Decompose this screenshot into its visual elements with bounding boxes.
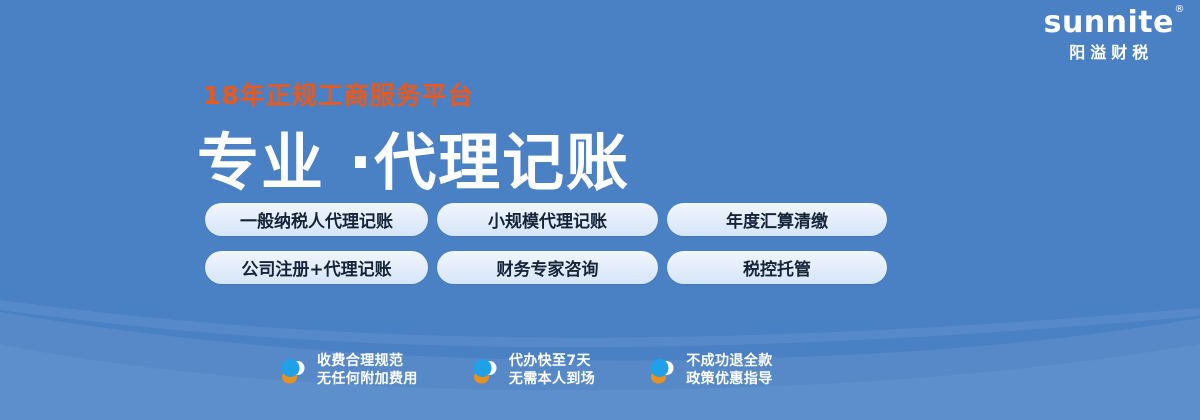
wave-hairline: [0, 300, 1200, 347]
feature-text-pricing: 收费合理规范 无任何附加费用: [317, 352, 418, 388]
moon-phase-icon: [647, 355, 677, 385]
feature-item-guarantee: 不成功退全款 政策优惠指导: [647, 352, 772, 388]
feature-line-1: 代办快至7天: [509, 352, 595, 370]
service-pill-expert-consulting[interactable]: 财务专家咨询: [437, 251, 658, 284]
feature-item-speed: 代办快至7天 无需本人到场: [470, 352, 595, 388]
feature-line-1: 不成功退全款: [686, 352, 772, 370]
hero-kicker: 18年正规工商服务平台: [203, 76, 474, 112]
service-pill-small-scale[interactable]: 小规模代理记账: [437, 203, 658, 236]
feature-line-2: 无任何附加费用: [317, 370, 418, 388]
feature-list: 收费合理规范 无任何附加费用 代办快至7天 无需本人到场: [278, 352, 773, 388]
promotional-banner: sunnite ® 阳溢财税 18年正规工商服务平台 专业 ·代理记账 一般纳税…: [0, 0, 1200, 420]
logo-subtitle: 阳溢财税: [1044, 45, 1174, 61]
service-pill-row-1: 一般纳税人代理记账 小规模代理记账 年度汇算清缴: [205, 203, 887, 236]
feature-line-2: 政策优惠指导: [686, 370, 772, 388]
feature-item-pricing: 收费合理规范 无任何附加费用: [278, 352, 418, 388]
brand-logo[interactable]: sunnite ® 阳溢财税: [1044, 8, 1174, 61]
feature-text-speed: 代办快至7天 无需本人到场: [509, 352, 595, 388]
service-pill-company-registration[interactable]: 公司注册+代理记账: [205, 251, 428, 284]
logo-wordmark-text: sunnite: [1044, 5, 1174, 40]
feature-line-1: 收费合理规范: [317, 352, 418, 370]
moon-phase-icon: [470, 355, 500, 385]
service-pill-tax-control-custody[interactable]: 税控托管: [667, 251, 887, 284]
feature-text-guarantee: 不成功退全款 政策优惠指导: [686, 352, 772, 388]
service-pill-annual-settlement[interactable]: 年度汇算清缴: [667, 203, 887, 236]
logo-wordmark: sunnite ®: [1044, 8, 1174, 38]
registered-trademark-icon: ®: [1175, 5, 1186, 15]
service-pill-row-2: 公司注册+代理记账 财务专家咨询 税控托管: [205, 251, 887, 284]
service-pill-general-taxpayer[interactable]: 一般纳税人代理记账: [205, 203, 428, 236]
feature-line-2: 无需本人到场: [509, 370, 595, 388]
moon-phase-icon: [278, 355, 308, 385]
hero-headline: 专业 ·代理记账: [197, 112, 630, 202]
